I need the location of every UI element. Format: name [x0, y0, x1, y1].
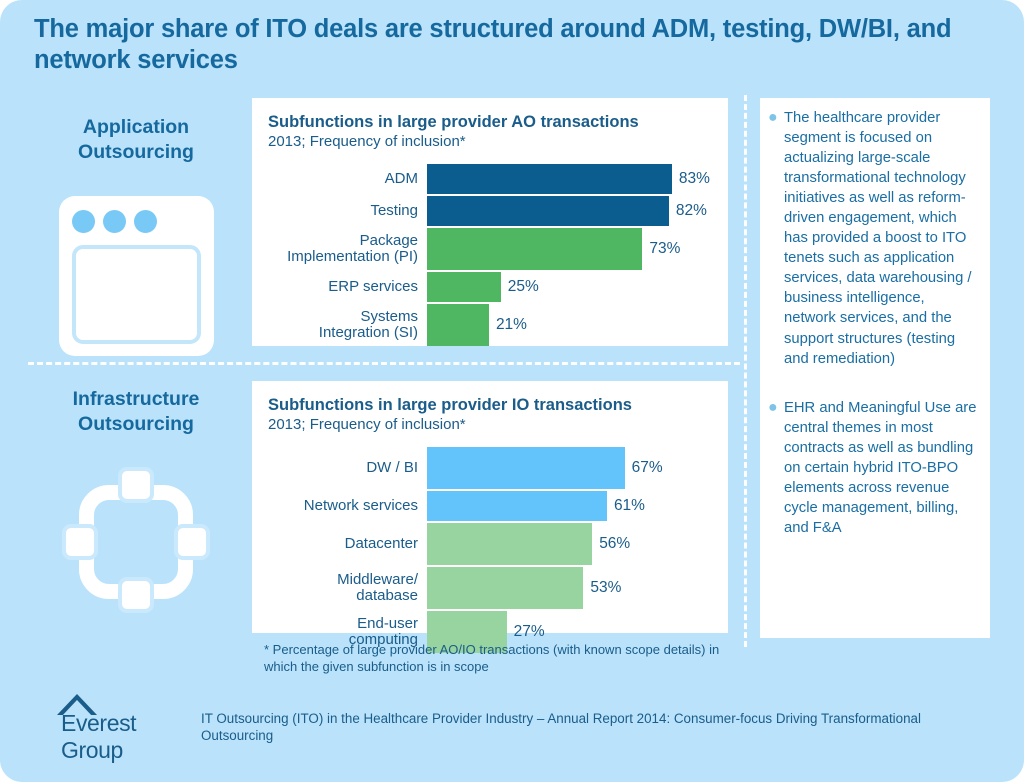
- bar-track: 53%: [427, 567, 712, 609]
- bar-value-label: 82%: [669, 202, 707, 220]
- network-node-icon: [118, 467, 154, 503]
- network-ring-icon: [56, 467, 216, 632]
- bar-category-label: ADM: [268, 164, 427, 194]
- bar-category-label: ERP services: [268, 272, 427, 302]
- bar-fill: [427, 447, 625, 489]
- bar-row: Network services61%: [268, 491, 712, 521]
- bar-value-label: 56%: [592, 535, 630, 553]
- bar-row: Datacenter56%: [268, 523, 712, 565]
- bar-track: 73%: [427, 228, 712, 270]
- bar-track: 67%: [427, 447, 712, 489]
- side-block-infrastructure-outsourcing: Infrastructure Outsourcing: [30, 387, 242, 632]
- bar-fill: [427, 567, 583, 609]
- bar-fill: [427, 196, 669, 226]
- bar-fill: [427, 491, 607, 521]
- bar-value-label: 67%: [625, 459, 663, 477]
- bar-value-label: 53%: [583, 579, 621, 597]
- application-window-icon: [59, 196, 214, 356]
- footer: Everest Group IT Outsourcing (ITO) in th…: [55, 694, 991, 745]
- horizontal-divider: [28, 362, 740, 365]
- side-label-infrastructure-outsourcing: Infrastructure Outsourcing: [30, 387, 242, 437]
- bar-track: 56%: [427, 523, 712, 565]
- bar-row: ADM83%: [268, 164, 712, 194]
- network-node-icon: [174, 524, 210, 560]
- bar-row: Systems Integration (SI)21%: [268, 304, 712, 346]
- source-text: IT Outsourcing (ITO) in the Healthcare P…: [201, 710, 991, 745]
- bar-category-label: Systems Integration (SI): [268, 304, 427, 346]
- bar-fill: [427, 272, 501, 302]
- bar-category-label: Package Implementation (PI): [268, 228, 427, 270]
- bar-value-label: 25%: [501, 278, 539, 296]
- bar-track: 61%: [427, 491, 712, 521]
- bar-category-label: Network services: [268, 491, 427, 521]
- chart-title-io: Subfunctions in large provider IO transa…: [268, 395, 712, 415]
- vertical-divider: [744, 95, 747, 647]
- everest-group-logo: Everest Group: [55, 694, 195, 740]
- bar-value-label: 61%: [607, 497, 645, 515]
- bar-row: Testing82%: [268, 196, 712, 226]
- bar-track: 25%: [427, 272, 712, 302]
- bar-category-label: Datacenter: [268, 523, 427, 565]
- window-dot-icon: [103, 210, 126, 233]
- bar-chart-io: DW / BI67%Network services61%Datacenter5…: [268, 447, 712, 653]
- chart-subtitle-io: 2013; Frequency of inclusion*: [268, 416, 712, 435]
- bullet-dot-icon: ●: [768, 398, 784, 538]
- bar-track: 82%: [427, 196, 712, 226]
- network-node-icon: [118, 577, 154, 613]
- commentary-bullet: ●EHR and Meaningful Use are central them…: [768, 398, 980, 538]
- side-block-application-outsourcing: Application Outsourcing: [30, 115, 242, 356]
- bar-row: DW / BI67%: [268, 447, 712, 489]
- bar-value-label: 83%: [672, 170, 710, 188]
- bar-row: Package Implementation (PI)73%: [268, 228, 712, 270]
- bar-chart-ao: ADM83%Testing82%Package Implementation (…: [268, 164, 712, 346]
- network-node-icon: [62, 524, 98, 560]
- bar-category-label: DW / BI: [268, 447, 427, 489]
- bar-track: 83%: [427, 164, 712, 194]
- bar-category-label: Testing: [268, 196, 427, 226]
- bullet-dot-icon: ●: [768, 108, 784, 369]
- logo-wordmark: Everest Group: [61, 710, 195, 764]
- slide-root: The major share of ITO deals are structu…: [0, 0, 1024, 782]
- footnote: * Percentage of large provider AO/IO tra…: [264, 641, 724, 676]
- bar-category-label: Middleware/ database: [268, 567, 427, 609]
- bar-value-label: 27%: [507, 623, 545, 641]
- bar-fill: [427, 228, 642, 270]
- commentary-bullet: ●The healthcare provider segment is focu…: [768, 108, 980, 369]
- bar-row: Middleware/ database53%: [268, 567, 712, 609]
- bar-value-label: 21%: [489, 316, 527, 334]
- side-label-application-outsourcing: Application Outsourcing: [30, 115, 242, 165]
- window-dots: [72, 210, 157, 233]
- window-dot-icon: [72, 210, 95, 233]
- chart-subtitle-ao: 2013; Frequency of inclusion*: [268, 133, 712, 152]
- bar-fill: [427, 523, 592, 565]
- bar-row: ERP services25%: [268, 272, 712, 302]
- bar-track: 21%: [427, 304, 712, 346]
- chart-card-ao: Subfunctions in large provider AO transa…: [252, 98, 728, 346]
- page-title: The major share of ITO deals are structu…: [34, 14, 974, 75]
- bar-value-label: 73%: [642, 240, 680, 258]
- bar-fill: [427, 164, 672, 194]
- commentary-panel: ●The healthcare provider segment is focu…: [760, 98, 990, 638]
- window-screen: [72, 245, 201, 344]
- chart-title-ao: Subfunctions in large provider AO transa…: [268, 112, 712, 132]
- chart-card-io: Subfunctions in large provider IO transa…: [252, 381, 728, 633]
- bar-fill: [427, 304, 489, 346]
- window-dot-icon: [134, 210, 157, 233]
- commentary-bullet-text: The healthcare provider segment is focus…: [784, 108, 980, 369]
- commentary-bullet-text: EHR and Meaningful Use are central theme…: [784, 398, 980, 538]
